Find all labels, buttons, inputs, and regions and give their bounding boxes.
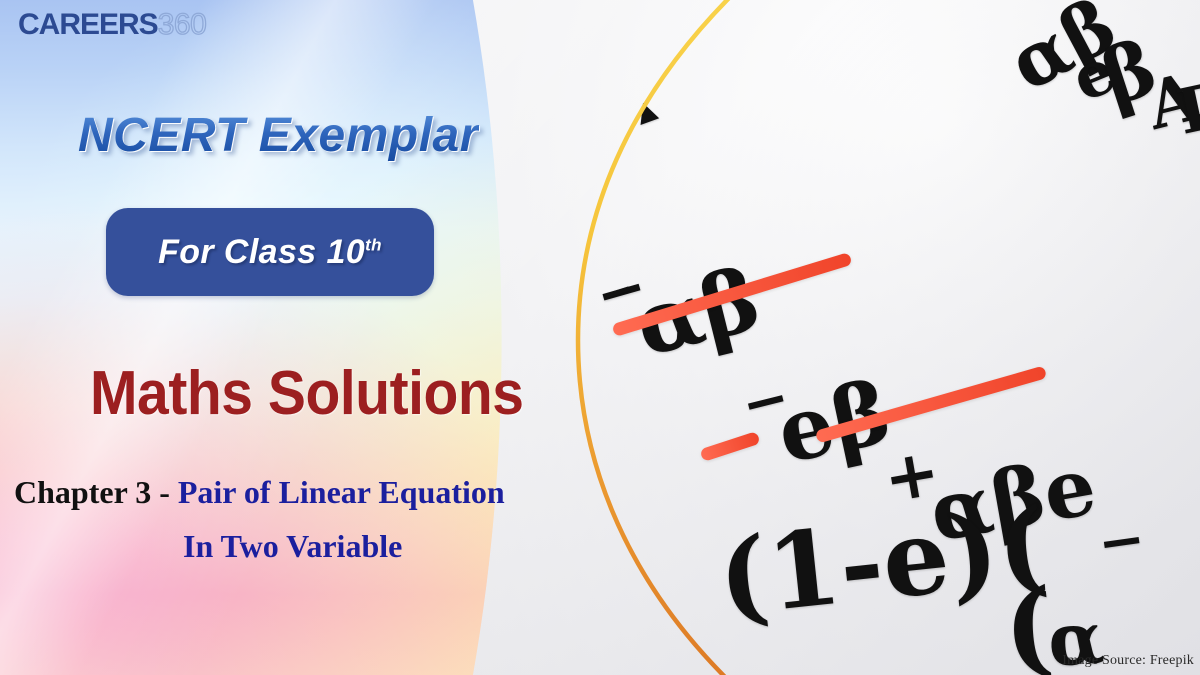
subject-title: Maths Solutions <box>90 358 524 429</box>
chapter-line-2: In Two Variable <box>183 528 402 565</box>
promo-banner: αβeβAΓ−αβ−eβ+αβe−(1-e)((α▲− CAREERS 360 … <box>0 0 1200 675</box>
chapter-name-part-1: Pair of Linear Equation <box>178 474 505 510</box>
logo-careers-text: CAREERS <box>18 8 158 42</box>
chapter-line-1: Chapter 3 - Pair of Linear Equation <box>14 474 505 511</box>
class-badge-prefix: For Class 10 <box>158 233 365 271</box>
careers360-logo[interactable]: CAREERS 360 <box>18 8 206 42</box>
class-badge-suffix: th <box>365 235 382 254</box>
chapter-name-part-2: In Two Variable <box>183 528 402 564</box>
class-badge: For Class 10th <box>106 208 434 296</box>
image-credit: Image Source: Freepik <box>1062 653 1194 669</box>
logo-360-text: 360 <box>158 8 207 42</box>
class-badge-label: For Class 10th <box>158 233 382 272</box>
handwriting-mark: − <box>1094 505 1150 577</box>
chapter-prefix: Chapter 3 - <box>14 474 178 510</box>
page-title: NCERT Exemplar <box>78 108 479 163</box>
